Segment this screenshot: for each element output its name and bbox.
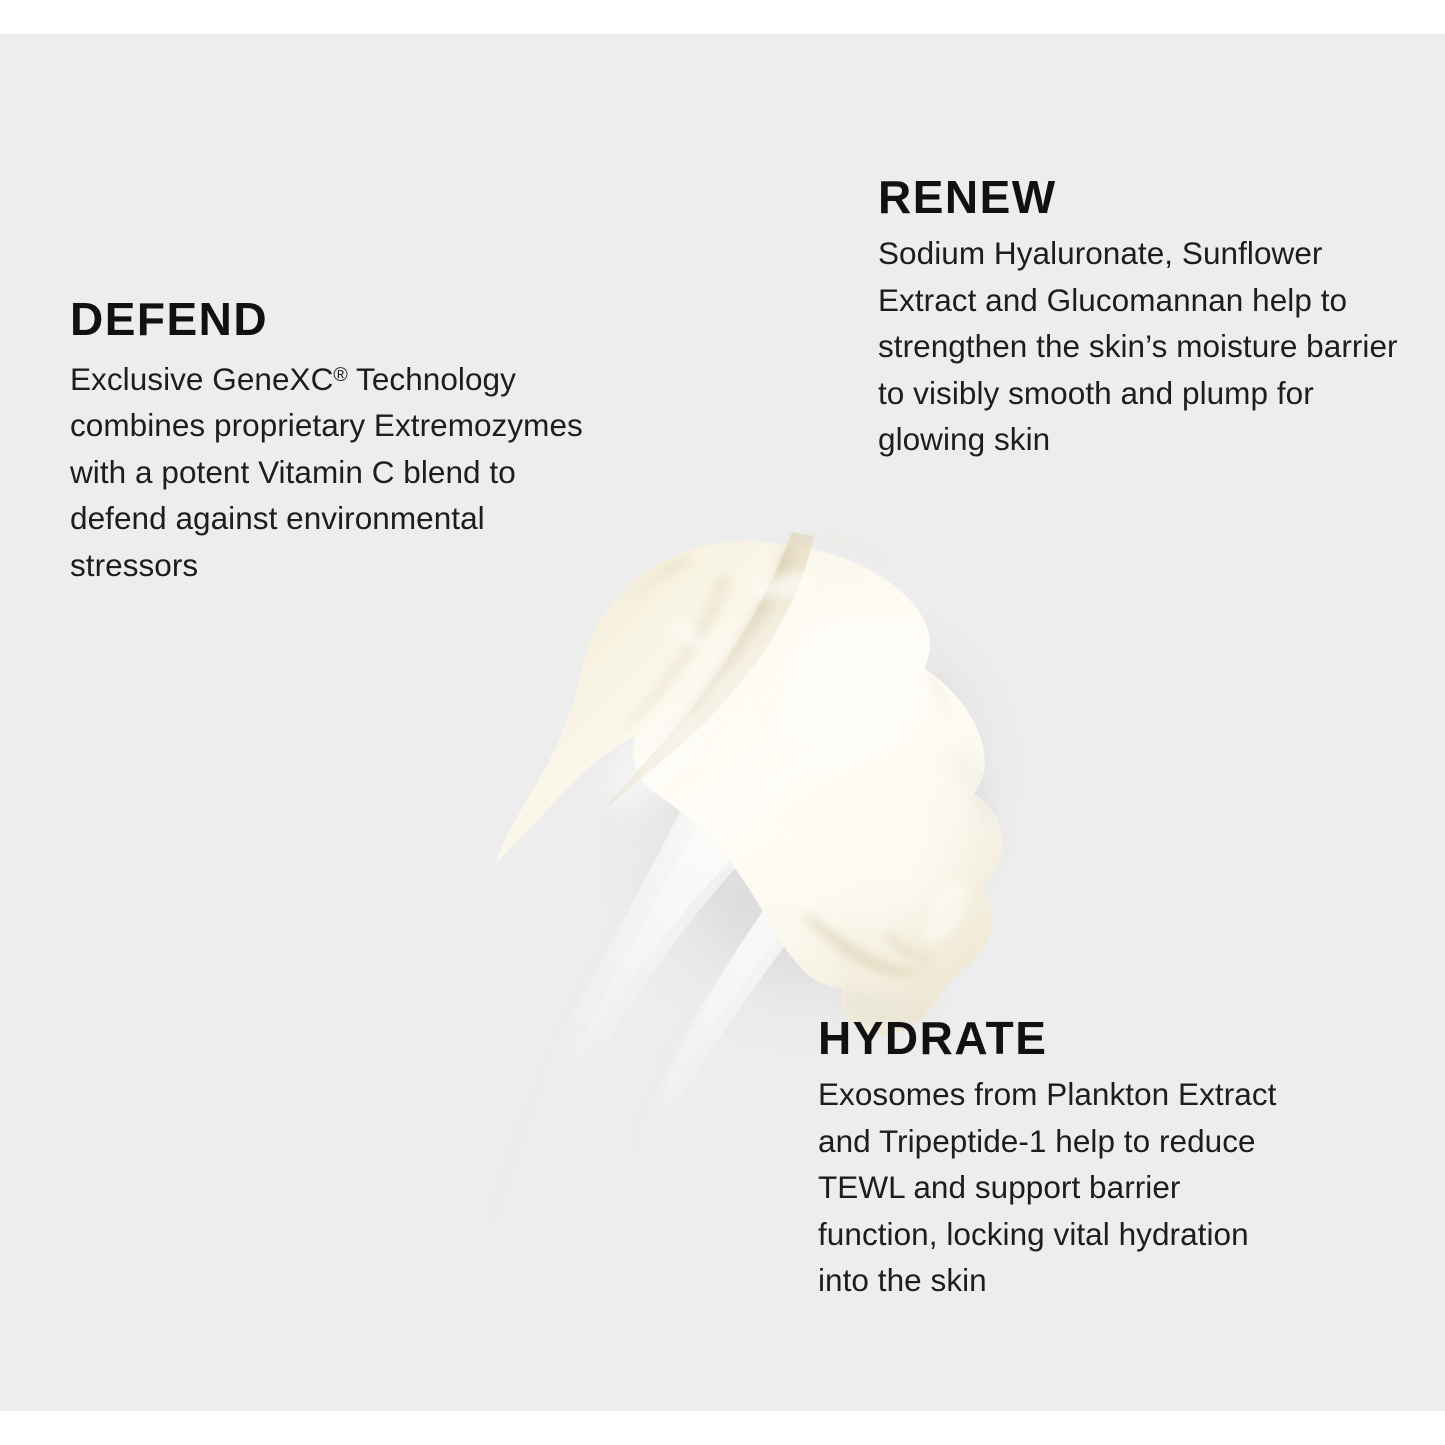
hydrate-body: Exosomes from Plankton Extract and Tripe…: [818, 1071, 1288, 1304]
registered-trademark-icon: ®: [333, 364, 347, 386]
defend-heading: DEFEND: [70, 296, 590, 342]
renew-body: Sodium Hyaluronate, Sunflower Extract an…: [878, 230, 1408, 463]
defend-body: Exclusive GeneXC® Technology combines pr…: [70, 352, 590, 588]
benefit-block-renew: RENEW Sodium Hyaluronate, Sunflower Extr…: [878, 174, 1408, 463]
renew-heading: RENEW: [878, 174, 1408, 220]
defend-body-part1: Exclusive GeneXC: [70, 361, 333, 397]
benefit-block-hydrate: HYDRATE Exosomes from Plankton Extract a…: [818, 1015, 1288, 1304]
hydrate-heading: HYDRATE: [818, 1015, 1288, 1061]
benefit-block-defend: DEFEND Exclusive GeneXC® Technology comb…: [70, 296, 590, 588]
infographic-canvas: DEFEND Exclusive GeneXC® Technology comb…: [0, 0, 1445, 1445]
